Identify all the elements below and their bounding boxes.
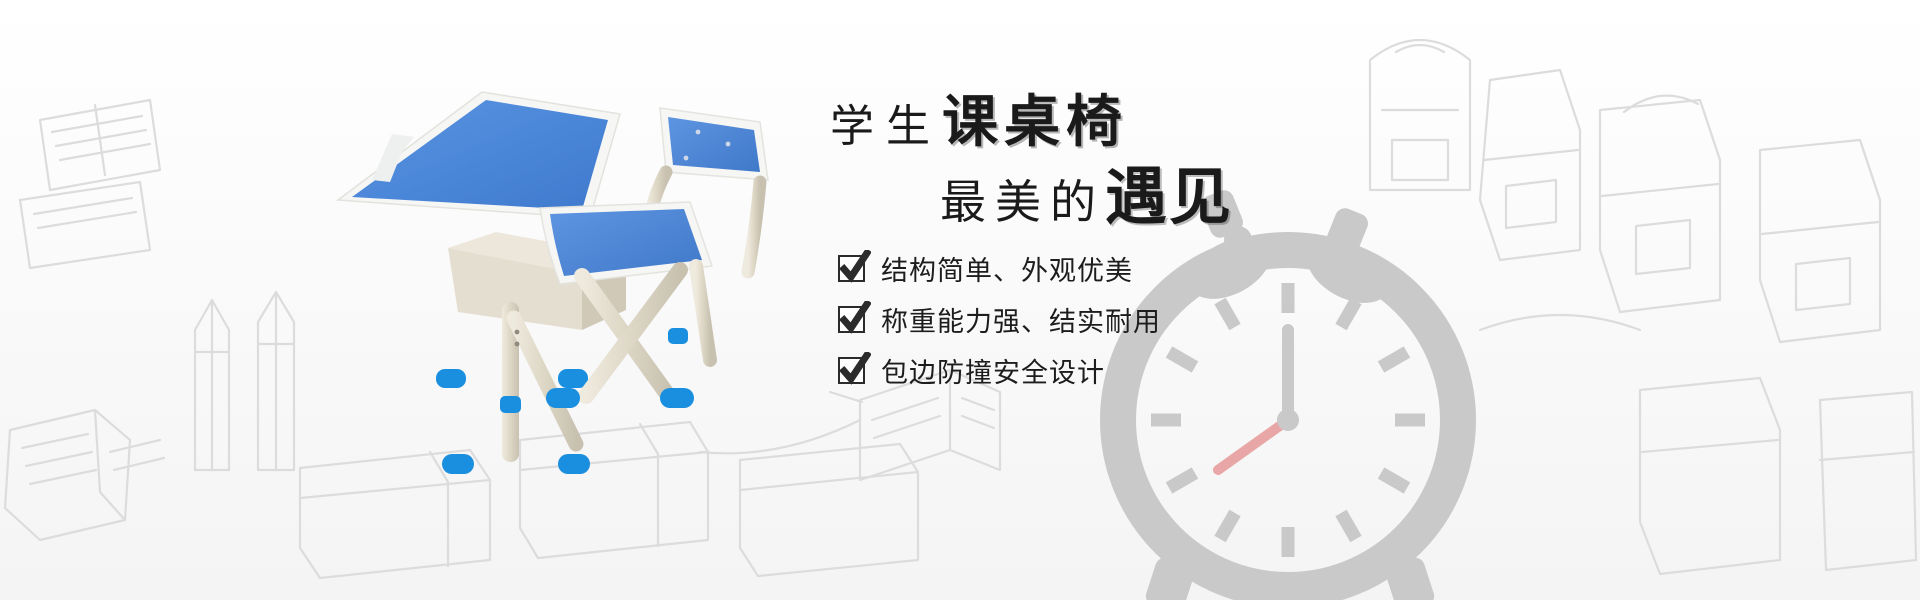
product-image [330,60,850,530]
headline-line1-emphasis: 课桌椅 [942,92,1128,154]
feature-item: 称重能力强、结实耐用 [838,298,1161,340]
feature-item: 结构简单、外观优美 [838,247,1161,289]
headline-line2-lead: 最美的 [940,177,1105,228]
check-mark-icon [838,306,865,333]
headline-line1-lead: 学生 [830,102,942,151]
headline-line-2: 最美的遇见 [940,167,1233,229]
check-mark-icon [838,357,865,384]
feature-item: 包边防撞安全设计 [838,349,1161,391]
feature-list: 结构简单、外观优美 称重能力强、结实耐用 包边防撞安全设计 [838,247,1161,400]
headline-line2-emphasis: 遇见 [1105,163,1233,232]
headline-line-1: 学生课桌椅 [830,95,1128,151]
check-mark-icon [838,255,865,282]
copy-block: 学生课桌椅 最美的遇见 结构简单、外观优美 [820,95,1380,385]
feature-label: 包边防撞安全设计 [881,351,1105,390]
headline: 学生课桌椅 最美的遇见 [820,95,1380,235]
feature-label: 称重能力强、结实耐用 [881,300,1161,339]
promo-banner: 学生课桌椅 最美的遇见 结构简单、外观优美 [0,0,1920,600]
feature-label: 结构简单、外观优美 [881,249,1133,288]
